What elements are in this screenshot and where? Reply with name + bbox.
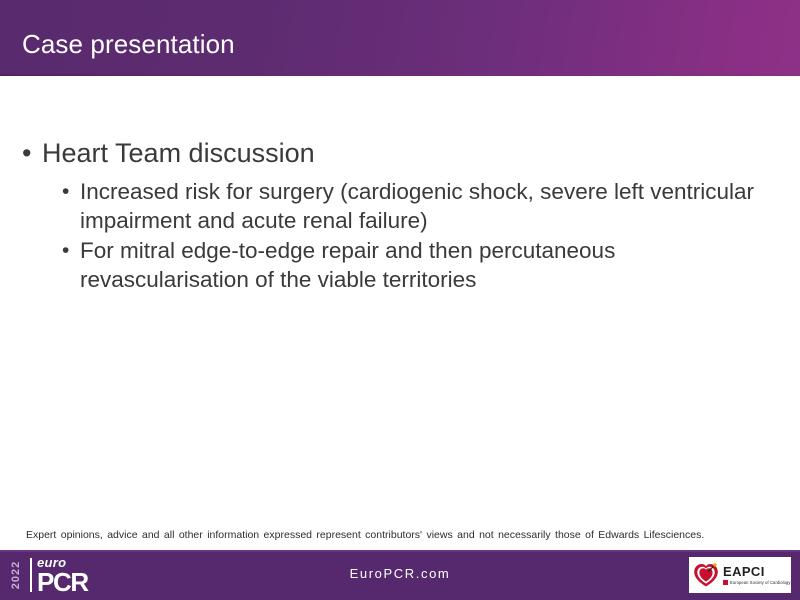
bullet-marker-icon: • xyxy=(22,136,31,170)
slide-content: • Heart Team discussion • Increased risk… xyxy=(0,76,800,521)
bullet-group-sub-2: • For mitral edge-to-edge repair and the… xyxy=(0,236,800,294)
disclaimer-text: Expert opinions, advice and all other in… xyxy=(26,528,778,542)
slide: Case presentation • Heart Team discussio… xyxy=(0,0,800,600)
eapci-text-block: EAPCI European Society of Cardiology xyxy=(723,565,791,585)
eapci-subtitle: European Society of Cardiology xyxy=(730,580,791,585)
eapci-name: EAPCI xyxy=(723,565,791,579)
esc-square-icon xyxy=(723,580,728,585)
bullet-group-sub-1: • Increased risk for surgery (cardiogeni… xyxy=(0,177,800,235)
bullet-group-heart-team: • Heart Team discussion xyxy=(0,136,800,170)
page-title: Case presentation xyxy=(22,28,235,60)
heart-icon xyxy=(693,562,719,588)
bullet-level2-text: For mitral edge-to-edge repair and then … xyxy=(80,238,615,292)
bullet-marker-icon: • xyxy=(62,236,69,265)
bullet-level2: • Increased risk for surgery (cardiogeni… xyxy=(0,177,780,235)
footer-website-url: EuroPCR.com xyxy=(0,566,800,581)
bullet-level2-text: Increased risk for surgery (cardiogenic … xyxy=(80,179,754,233)
bullet-marker-icon: • xyxy=(62,177,69,206)
bullet-level2: • For mitral edge-to-edge repair and the… xyxy=(0,236,780,294)
eapci-logo: EAPCI European Society of Cardiology xyxy=(689,557,791,593)
bullet-level1-text: Heart Team discussion xyxy=(42,138,315,168)
slide-header-band: Case presentation xyxy=(0,0,800,76)
eapci-subtitle-row: European Society of Cardiology xyxy=(723,580,791,585)
footer-top-edge xyxy=(0,550,800,552)
bullet-level1: • Heart Team discussion xyxy=(0,136,800,170)
